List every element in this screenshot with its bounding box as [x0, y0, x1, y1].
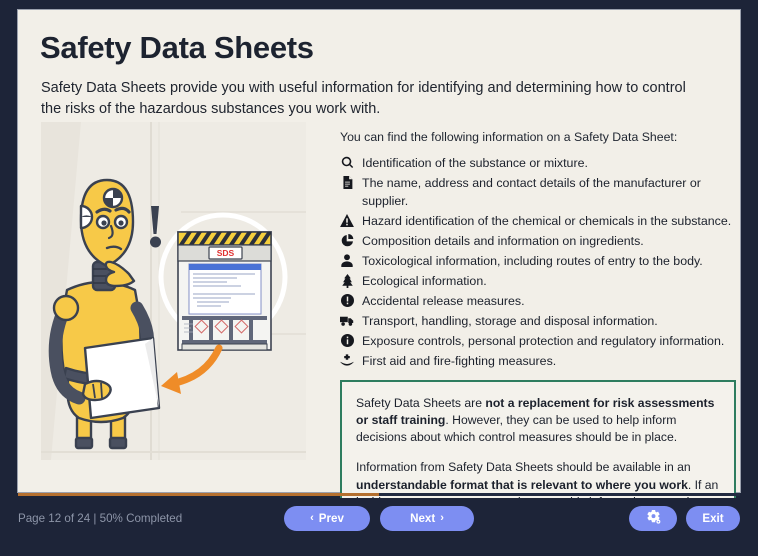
chevron-left-icon: ‹: [310, 513, 314, 524]
tree-icon: [340, 272, 354, 289]
chevron-right-icon: ›: [440, 513, 444, 524]
sds-poster-graphic: SDS: [178, 230, 271, 350]
illustration: SDS: [41, 122, 306, 460]
progress-bar-fill: [18, 493, 379, 496]
list-item-label: Exposure controls, personal protection a…: [362, 332, 724, 350]
list-item: Accidental release measures.: [340, 292, 736, 310]
next-button-label: Next: [410, 512, 435, 525]
exit-button[interactable]: Exit: [686, 506, 740, 531]
list-item: Hazard identification of the chemical or…: [340, 212, 736, 230]
list-item: The name, address and contact details of…: [340, 174, 736, 211]
list-item: Toxicological information, including rou…: [340, 252, 736, 270]
list-lead-text: You can find the following information o…: [340, 130, 736, 144]
info-circle-icon: [340, 332, 354, 349]
sds-info-column: You can find the following information o…: [340, 130, 736, 545]
callout-p1-text-a: Safety Data Sheets are: [356, 396, 485, 410]
illustration-artwork: SDS: [41, 122, 306, 460]
page-title: Safety Data Sheets: [40, 30, 314, 66]
list-item-label: Identification of the substance or mixtu…: [362, 154, 588, 172]
utility-buttons: Exit: [629, 506, 740, 531]
prev-button-label: Prev: [319, 512, 344, 525]
settings-button[interactable]: [629, 506, 677, 531]
list-item: Ecological information.: [340, 272, 736, 290]
list-item: Transport, handling, storage and disposa…: [340, 312, 736, 330]
truck-icon: [340, 312, 354, 329]
slide-panel: Safety Data Sheets Safety Data Sheets pr…: [18, 10, 740, 492]
list-item-label: Hazard identification of the chemical or…: [362, 212, 731, 230]
list-item-label: Accidental release measures.: [362, 292, 525, 310]
list-item-label: Composition details and information on i…: [362, 232, 644, 250]
person-icon: [340, 252, 354, 269]
sds-poster-label: SDS: [217, 248, 235, 258]
list-item: First aid and fire-fighting measures.: [340, 352, 736, 370]
callout-paragraph-1: Safety Data Sheets are not a replacement…: [356, 395, 720, 447]
intro-paragraph: Safety Data Sheets provide you with usef…: [41, 78, 701, 120]
callout-p2-bold: understandable format that is relevant t…: [356, 478, 688, 492]
progress-bar-track[interactable]: [18, 493, 740, 496]
list-item-label: Transport, handling, storage and disposa…: [362, 312, 658, 330]
list-item: Identification of the substance or mixtu…: [340, 154, 736, 172]
list-item-label: First aid and fire-fighting measures.: [362, 352, 556, 370]
next-button[interactable]: Next ›: [380, 506, 474, 531]
sds-info-list: Identification of the substance or mixtu…: [340, 154, 736, 371]
list-item: Composition details and information on i…: [340, 232, 736, 250]
first-aid-icon: [340, 352, 354, 369]
document-icon: [340, 174, 354, 191]
prev-button[interactable]: ‹ Prev: [284, 506, 370, 531]
list-item-label: The name, address and contact details of…: [362, 174, 736, 211]
gear-icon: [646, 510, 661, 528]
callout-p2-text-a: Information from Safety Data Sheets shou…: [356, 460, 691, 474]
magnifier-icon: [340, 154, 354, 171]
list-item-label: Ecological information.: [362, 272, 487, 290]
course-player: Safety Data Sheets Safety Data Sheets pr…: [0, 0, 758, 556]
warning-triangle-icon: [340, 212, 354, 229]
exclamation-circle-icon: [340, 292, 354, 309]
list-item-label: Toxicological information, including rou…: [362, 252, 703, 270]
exit-button-label: Exit: [702, 512, 723, 525]
pie-chart-icon: [340, 232, 354, 249]
player-footer: Page 12 of 24 | 50% Completed ‹ Prev Nex…: [0, 498, 758, 556]
list-item: Exposure controls, personal protection a…: [340, 332, 736, 350]
